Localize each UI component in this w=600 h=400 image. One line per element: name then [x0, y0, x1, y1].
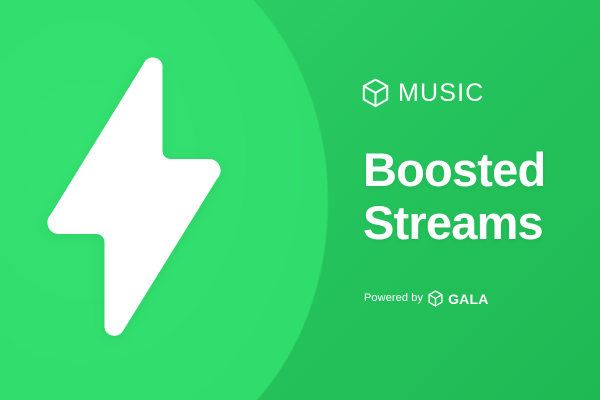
boosted-streams-banner: MUSIC Boosted Streams Powered by GALA: [0, 0, 600, 400]
banner-content: MUSIC Boosted Streams Powered by GALA: [362, 0, 600, 400]
powered-by-row: Powered by GALA: [364, 290, 489, 307]
headline-line-1: Boosted: [363, 144, 545, 197]
music-wordmark: MUSIC: [398, 81, 485, 106]
gala-cube-icon: [362, 78, 389, 108]
music-brand-lockup: MUSIC: [362, 78, 485, 108]
powered-by-label: Powered by: [364, 293, 423, 304]
headline-line-2: Streams: [363, 197, 545, 250]
gala-cube-icon: [428, 290, 443, 307]
gala-wordmark: GALA: [448, 292, 488, 306]
lightning-bolt-icon: [44, 54, 224, 339]
headline: Boosted Streams: [363, 144, 545, 249]
